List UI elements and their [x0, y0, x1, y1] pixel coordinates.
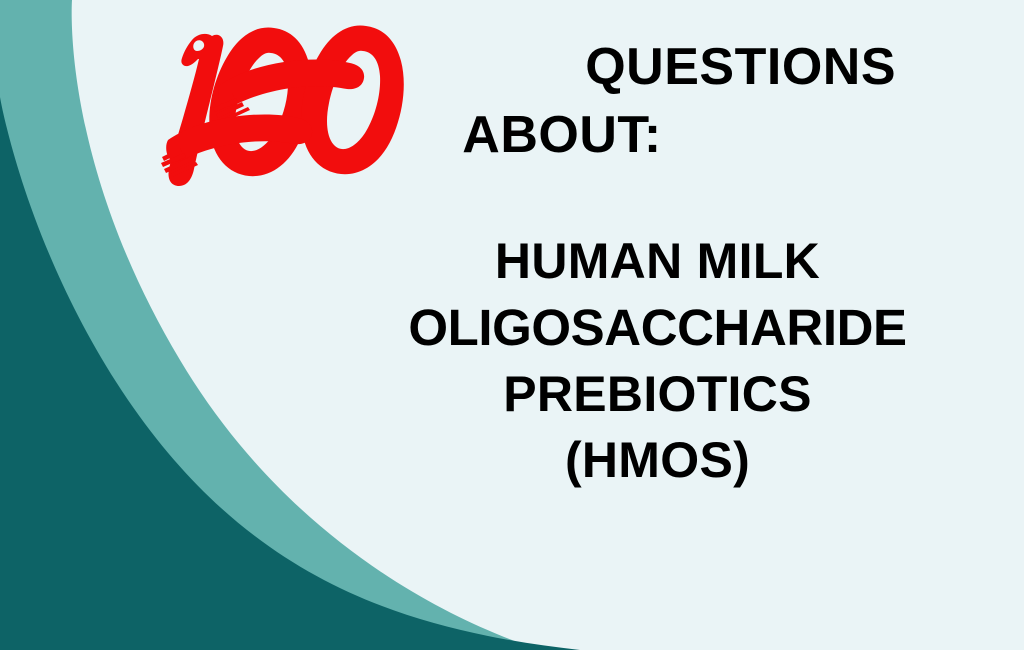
kicker-line-about: ABOUT:	[300, 102, 1024, 170]
kicker-line-questions: QUESTIONS	[300, 34, 1024, 102]
subject-line-human-milk: HUMAN MILK	[285, 228, 1024, 294]
subject-line-prebiotics: PREBIOTICS	[285, 361, 1024, 427]
subject-line-hmos-abbreviation: (HMOS)	[285, 427, 1024, 493]
subject-title: HUMAN MILK OLIGOSACCHARIDE PREBIOTICS (H…	[285, 228, 1024, 493]
slide-canvas: QUESTIONS ABOUT: HUMAN MILK OLIGOSACCHAR…	[0, 0, 1024, 650]
subject-line-oligosaccharide: OLIGOSACCHARIDE	[285, 294, 1024, 361]
kicker-headline: QUESTIONS ABOUT:	[300, 34, 1024, 169]
